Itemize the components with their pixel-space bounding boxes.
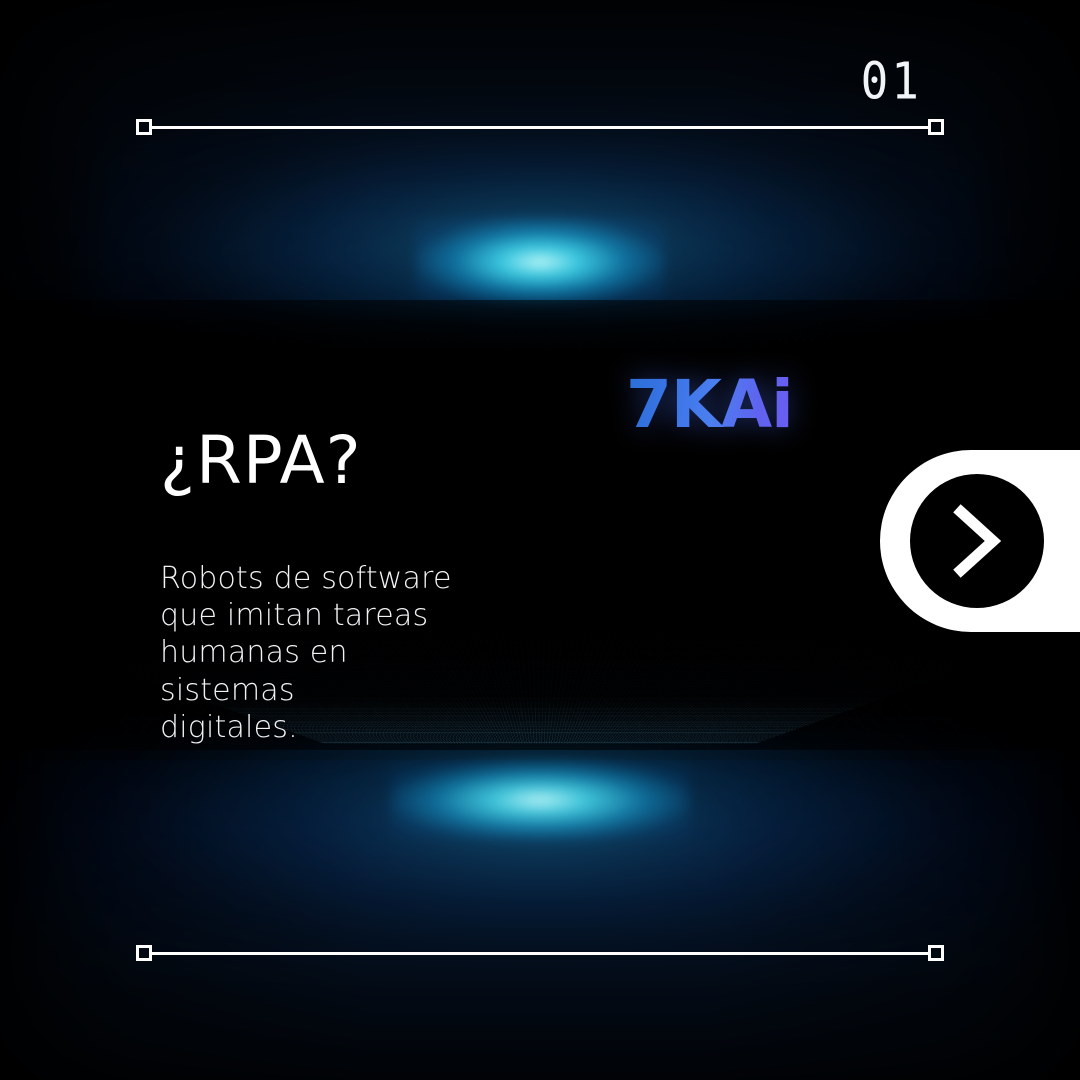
bracket-node-left-top	[136, 119, 152, 135]
body-paragraph: Robots de software que imitan tareas hum…	[160, 560, 490, 746]
brand-logo: 7KAi	[626, 372, 793, 438]
bracket-node-right-top	[928, 119, 944, 135]
page-title: ¿RPA?	[160, 428, 362, 494]
bottom-frame-rule	[136, 944, 944, 962]
top-frame-rule	[136, 118, 944, 136]
bracket-node-left-bottom	[136, 945, 152, 961]
bracket-node-right-bottom	[928, 945, 944, 961]
slide-root: 01 7KAi ¿RPA? Robots de software que imi…	[0, 0, 1080, 1080]
slide-number: 01	[861, 56, 922, 107]
next-slide-button[interactable]	[880, 450, 1080, 632]
next-button-disc[interactable]	[910, 474, 1044, 608]
bracket-rail-bottom	[152, 952, 928, 955]
bracket-rail-top	[152, 126, 928, 129]
chevron-right-icon	[947, 504, 1007, 578]
